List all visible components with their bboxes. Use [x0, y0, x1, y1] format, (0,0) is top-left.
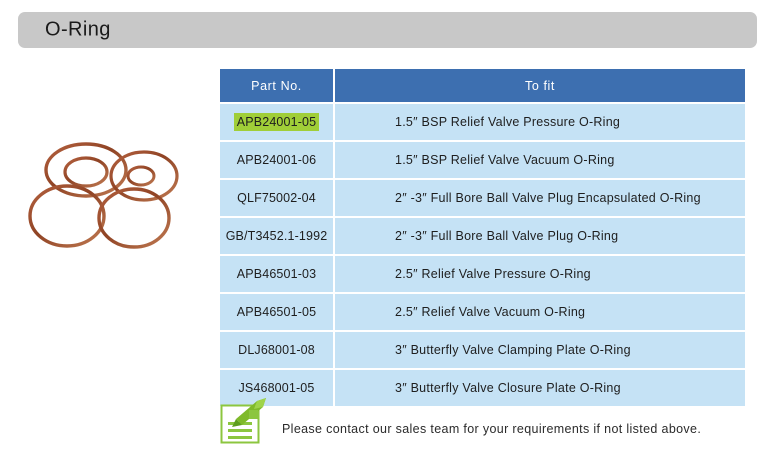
table-row: DLJ68001-083″ Butterfly Valve Clamping P… [220, 332, 745, 368]
pen-writing-icon [219, 396, 269, 445]
cell-part-no: APB24001-06 [220, 142, 333, 178]
cell-to-fit: 2″ -3″ Full Bore Ball Valve Plug Encapsu… [335, 180, 745, 216]
parts-table: Part No. To fit APB24001-051.5″ BSP Reli… [218, 67, 747, 408]
table-row: QLF75002-042″ -3″ Full Bore Ball Valve P… [220, 180, 745, 216]
table-row: APB46501-032.5″ Relief Valve Pressure O-… [220, 256, 745, 292]
part-no-highlight: APB24001-05 [234, 113, 320, 131]
table-body: APB24001-051.5″ BSP Relief Valve Pressur… [220, 104, 745, 406]
table-row: APB24001-061.5″ BSP Relief Valve Vacuum … [220, 142, 745, 178]
column-header-to-fit: To fit [335, 69, 745, 102]
cell-to-fit: 2.5″ Relief Valve Pressure O-Ring [335, 256, 745, 292]
page-title-bar: O-Ring [18, 12, 757, 48]
cell-part-no: QLF75002-04 [220, 180, 333, 216]
table-header: Part No. To fit [220, 69, 745, 102]
cell-to-fit: 1.5″ BSP Relief Valve Pressure O-Ring [335, 104, 745, 140]
footer-note-text: Please contact our sales team for your r… [282, 406, 701, 436]
cell-to-fit: 2.5″ Relief Valve Vacuum O-Ring [335, 294, 745, 330]
page-title: O-Ring [45, 19, 111, 42]
column-header-part-no: Part No. [220, 69, 333, 102]
cell-part-no: APB46501-03 [220, 256, 333, 292]
cell-part-no: GB/T3452.1-1992 [220, 218, 333, 254]
cell-part-no: DLJ68001-08 [220, 332, 333, 368]
cell-to-fit: 2″ -3″ Full Bore Ball Valve Plug O-Ring [335, 218, 745, 254]
footer-note: Please contact our sales team for your r… [219, 396, 701, 445]
cell-part-no: APB46501-05 [220, 294, 333, 330]
table-header-row: Part No. To fit [220, 69, 745, 102]
cell-part-no: APB24001-05 [220, 104, 333, 140]
cell-to-fit: 3″ Butterfly Valve Clamping Plate O-Ring [335, 332, 745, 368]
table-row: APB46501-052.5″ Relief Valve Vacuum O-Ri… [220, 294, 745, 330]
cell-to-fit: 1.5″ BSP Relief Valve Vacuum O-Ring [335, 142, 745, 178]
table-row: APB24001-051.5″ BSP Relief Valve Pressur… [220, 104, 745, 140]
product-image-oring-set [8, 128, 206, 250]
table-row: GB/T3452.1-19922″ -3″ Full Bore Ball Val… [220, 218, 745, 254]
